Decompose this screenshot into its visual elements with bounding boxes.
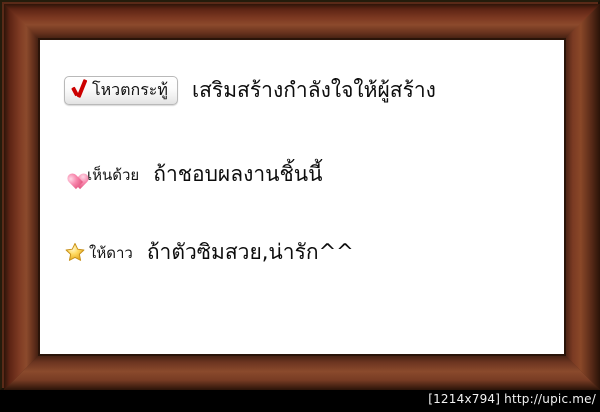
pink-heart-icon[interactable] bbox=[64, 166, 83, 184]
white-canvas: โหวตกระทู้ เสริมสร้างกำลังใจให้ผู้สร้าง … bbox=[40, 40, 564, 354]
frame-rail-bottom bbox=[4, 354, 600, 390]
frame-rail-left bbox=[4, 4, 40, 390]
vote-description-text: เสริมสร้างกำลังใจให้ผู้สร้าง bbox=[192, 74, 436, 107]
watermark-text: [1214x794] http://upic.me/ bbox=[428, 392, 596, 406]
agree-row: เห็นด้วย ถ้าชอบผลงานชิ้นนี้ bbox=[64, 158, 322, 191]
star-label: ให้ดาว bbox=[89, 241, 133, 265]
screenshot-root: โหวตกระทู้ เสริมสร้างกำลังใจให้ผู้สร้าง … bbox=[0, 0, 600, 412]
picture-frame: โหวตกระทู้ เสริมสร้างกำลังใจให้ผู้สร้าง … bbox=[0, 0, 600, 390]
frame-rail-right bbox=[564, 4, 600, 390]
star-row: ให้ดาว ถ้าตัวซิมสวย,น่ารัก^^ bbox=[64, 236, 354, 269]
agree-description-text: ถ้าชอบผลงานชิ้นนี้ bbox=[153, 158, 322, 191]
vote-row: โหวตกระทู้ เสริมสร้างกำลังใจให้ผู้สร้าง bbox=[64, 74, 436, 107]
vote-button[interactable]: โหวตกระทู้ bbox=[64, 76, 178, 105]
agree-label: เห็นด้วย bbox=[87, 163, 139, 187]
frame-rail-top bbox=[4, 4, 600, 40]
red-check-icon bbox=[72, 80, 87, 100]
vote-button-label: โหวตกระทู้ bbox=[92, 82, 168, 98]
gold-star-icon[interactable] bbox=[64, 242, 86, 263]
star-description-text: ถ้าตัวซิมสวย,น่ารัก^^ bbox=[147, 236, 354, 269]
